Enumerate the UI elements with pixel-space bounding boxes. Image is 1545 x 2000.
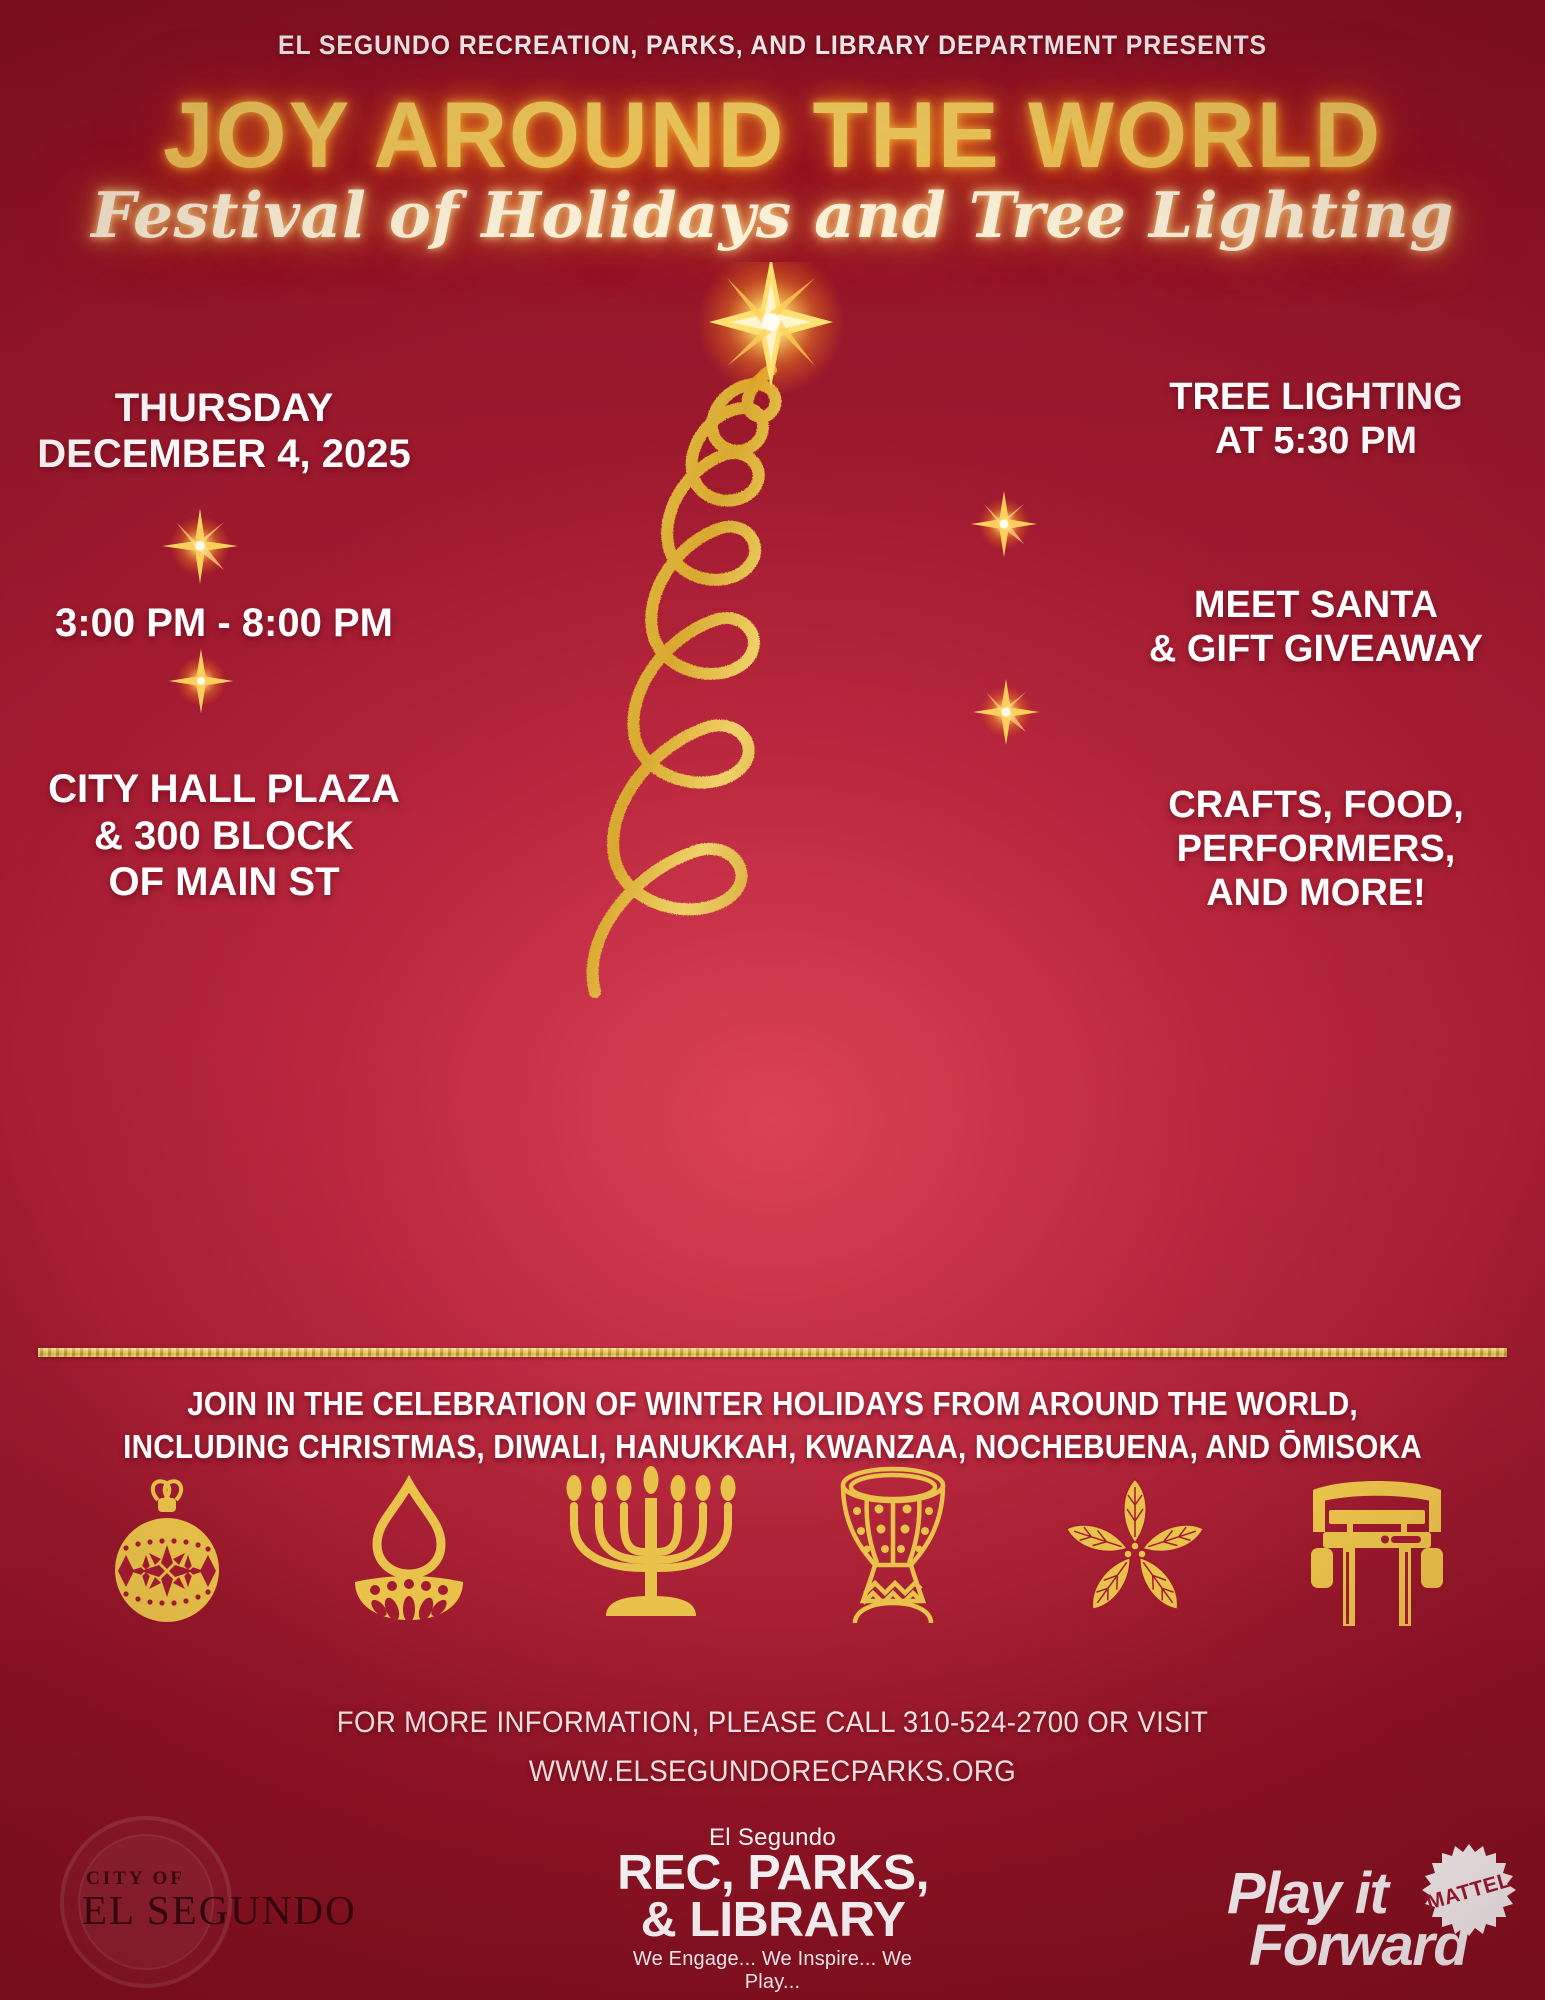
menorah-icon: [556, 1446, 746, 1626]
rpl-line-1: REC, PARKS,: [604, 1850, 941, 1897]
rec-parks-library-logo: El Segundo REC, PARKS, & LIBRARY We Enga…: [608, 1824, 938, 1994]
star-topper-icon: [697, 262, 845, 396]
christmas-ornament-icon: [72, 1446, 262, 1626]
diya-lamp-icon: [314, 1446, 504, 1626]
page-subtitle: Festival of Holidays and Tree Lighting: [0, 178, 1545, 252]
presenter-line: EL SEGUNDO RECREATION, PARKS, AND LIBRAR…: [62, 30, 1483, 61]
contact-info: FOR MORE INFORMATION, PLEASE CALL 310-52…: [62, 1699, 1483, 1796]
city-logo-name: EL SEGUNDO: [82, 1886, 357, 1934]
footer: CITY OF EL SEGUNDO El Segundo REC, PARKS…: [0, 1820, 1545, 2000]
holiday-icon-row: [72, 1446, 1472, 1626]
event-time: 3:00 PM - 8:00 PM: [14, 600, 434, 646]
event-details-left: THURSDAY DECEMBER 4, 2025 3:00 PM - 8:00…: [14, 385, 434, 905]
poinsettia-icon: [1040, 1446, 1230, 1626]
christmas-tree-graphic: [453, 262, 1093, 1042]
activities-info: CRAFTS, FOOD, PERFORMERS, AND MORE!: [1101, 783, 1531, 915]
page-title: JOY AROUND THE WORLD: [23, 88, 1522, 182]
tree-lighting-info: TREE LIGHTING AT 5:30 PM: [1101, 375, 1531, 463]
rpl-tagline: We Engage... We Inspire... We Play...: [608, 1948, 938, 1994]
rpl-line-2: & LIBRARY: [604, 1897, 941, 1944]
event-flyer: EL SEGUNDO RECREATION, PARKS, AND LIBRAR…: [0, 0, 1545, 2000]
event-details-right: TREE LIGHTING AT 5:30 PM MEET SANTA & GI…: [1101, 375, 1531, 916]
contact-website-line[interactable]: WWW.ELSEGUNDORECPARKS.ORG: [62, 1748, 1483, 1797]
play-it-forward-logo: Play it Forward MATTEL: [1207, 1834, 1527, 1994]
gold-divider: [38, 1348, 1507, 1357]
event-date: THURSDAY DECEMBER 4, 2025: [14, 385, 434, 478]
contact-phone-line: FOR MORE INFORMATION, PLEASE CALL 310-52…: [62, 1699, 1483, 1748]
djembe-drum-icon: [798, 1446, 988, 1626]
santa-info: MEET SANTA & GIFT GIVEAWAY: [1101, 583, 1531, 671]
mattel-badge: MATTEL: [1417, 1842, 1521, 1946]
torii-gate-icon: [1282, 1446, 1472, 1626]
city-of-el-segundo-logo: CITY OF EL SEGUNDO: [38, 1824, 288, 1990]
event-location: CITY HALL PLAZA & 300 BLOCK OF MAIN ST: [14, 766, 434, 905]
